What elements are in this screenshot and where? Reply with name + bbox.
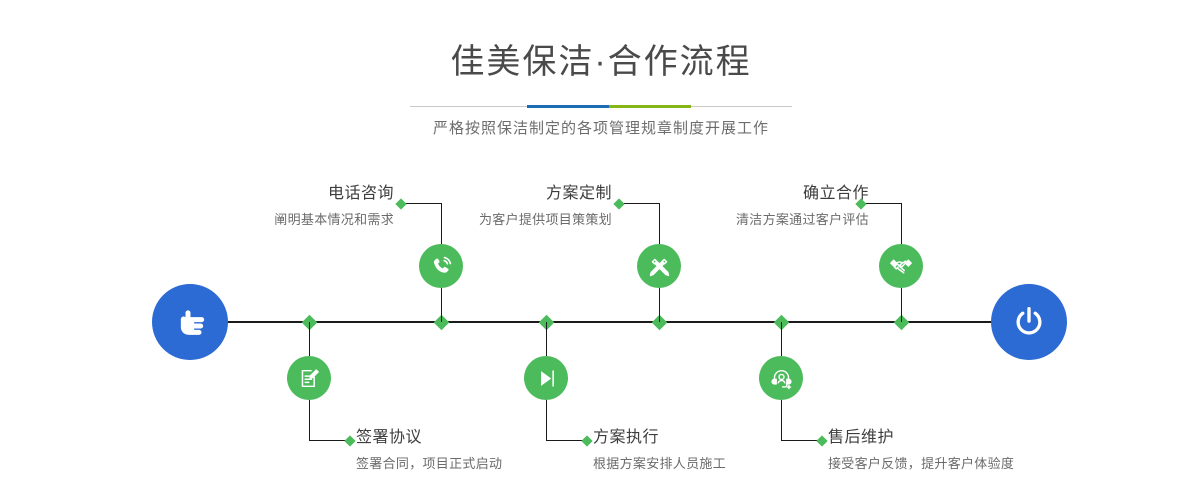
pencil-ruler-icon [647,254,672,279]
process-flow-infographic: 佳美保洁·合作流程 严格按照保洁制定的各项管理规章制度开展工作 [0,0,1202,502]
step-node-3[interactable] [637,244,681,288]
step-desc-5: 清洁方案通过客户评估 [736,213,869,226]
connector-elbow-v-3 [659,203,660,245]
step-node-5[interactable] [879,244,923,288]
connector-elbow-v-4 [546,400,547,441]
power-icon [1009,302,1049,342]
step-node-1[interactable] [419,244,463,288]
customer-service-icon [769,366,794,391]
connector-stem-3 [659,288,660,322]
connector-elbow-v-6 [781,400,782,441]
divider-blue-segment [527,105,609,108]
label-dot-1 [395,198,406,209]
label-dot-4 [581,435,592,446]
step-title-3: 方案定制 [479,186,612,202]
step-title-5: 确立合作 [736,186,869,202]
pointing-hand-icon [170,302,210,342]
connector-elbow-v-1 [441,203,442,245]
connector-elbow-v-5 [901,203,902,245]
connector-stem-1 [441,288,442,322]
phone-call-icon [429,254,454,279]
step-desc-2: 签署合同，项目正式启动 [356,457,502,470]
step-label-5: 确立合作 清洁方案通过客户评估 [736,186,869,226]
flow-end-node[interactable] [991,284,1067,360]
page-subtitle: 严格按照保洁制定的各项管理规章制度开展工作 [0,121,1202,136]
play-execute-icon [534,366,559,391]
step-node-2[interactable] [287,356,331,400]
connector-stem-5 [901,288,902,322]
step-desc-6: 接受客户反馈，提升客户体验度 [828,457,1014,470]
step-title-4: 方案执行 [593,430,726,446]
step-label-2: 签署协议 签署合同，项目正式启动 [356,430,502,470]
title-divider [410,105,792,108]
step-node-4[interactable] [524,356,568,400]
connector-stem-6 [781,322,782,356]
page-title: 佳美保洁·合作流程 [0,45,1202,79]
document-sign-icon [297,366,322,391]
step-desc-1: 阐明基本情况和需求 [274,213,394,226]
step-label-3: 方案定制 为客户提供项目策策划 [479,186,612,226]
label-dot-6 [816,435,827,446]
step-node-6[interactable] [759,356,803,400]
connector-stem-4 [546,322,547,356]
step-title-2: 签署协议 [356,430,502,446]
flow-start-node[interactable] [152,284,228,360]
step-title-6: 售后维护 [828,430,1014,446]
step-label-1: 电话咨询 阐明基本情况和需求 [274,186,394,226]
label-dot-2 [344,435,355,446]
label-dot-3 [613,198,624,209]
handshake-icon [888,253,914,279]
step-title-1: 电话咨询 [274,186,394,202]
step-desc-3: 为客户提供项目策策划 [479,213,612,226]
header: 佳美保洁·合作流程 严格按照保洁制定的各项管理规章制度开展工作 [0,0,1202,136]
step-label-4: 方案执行 根据方案安排人员施工 [593,430,726,470]
divider-green-segment [609,105,691,108]
step-desc-4: 根据方案安排人员施工 [593,457,726,470]
connector-stem-2 [309,322,310,356]
step-label-6: 售后维护 接受客户反馈，提升客户体验度 [828,430,1014,470]
connector-elbow-v-2 [309,400,310,441]
